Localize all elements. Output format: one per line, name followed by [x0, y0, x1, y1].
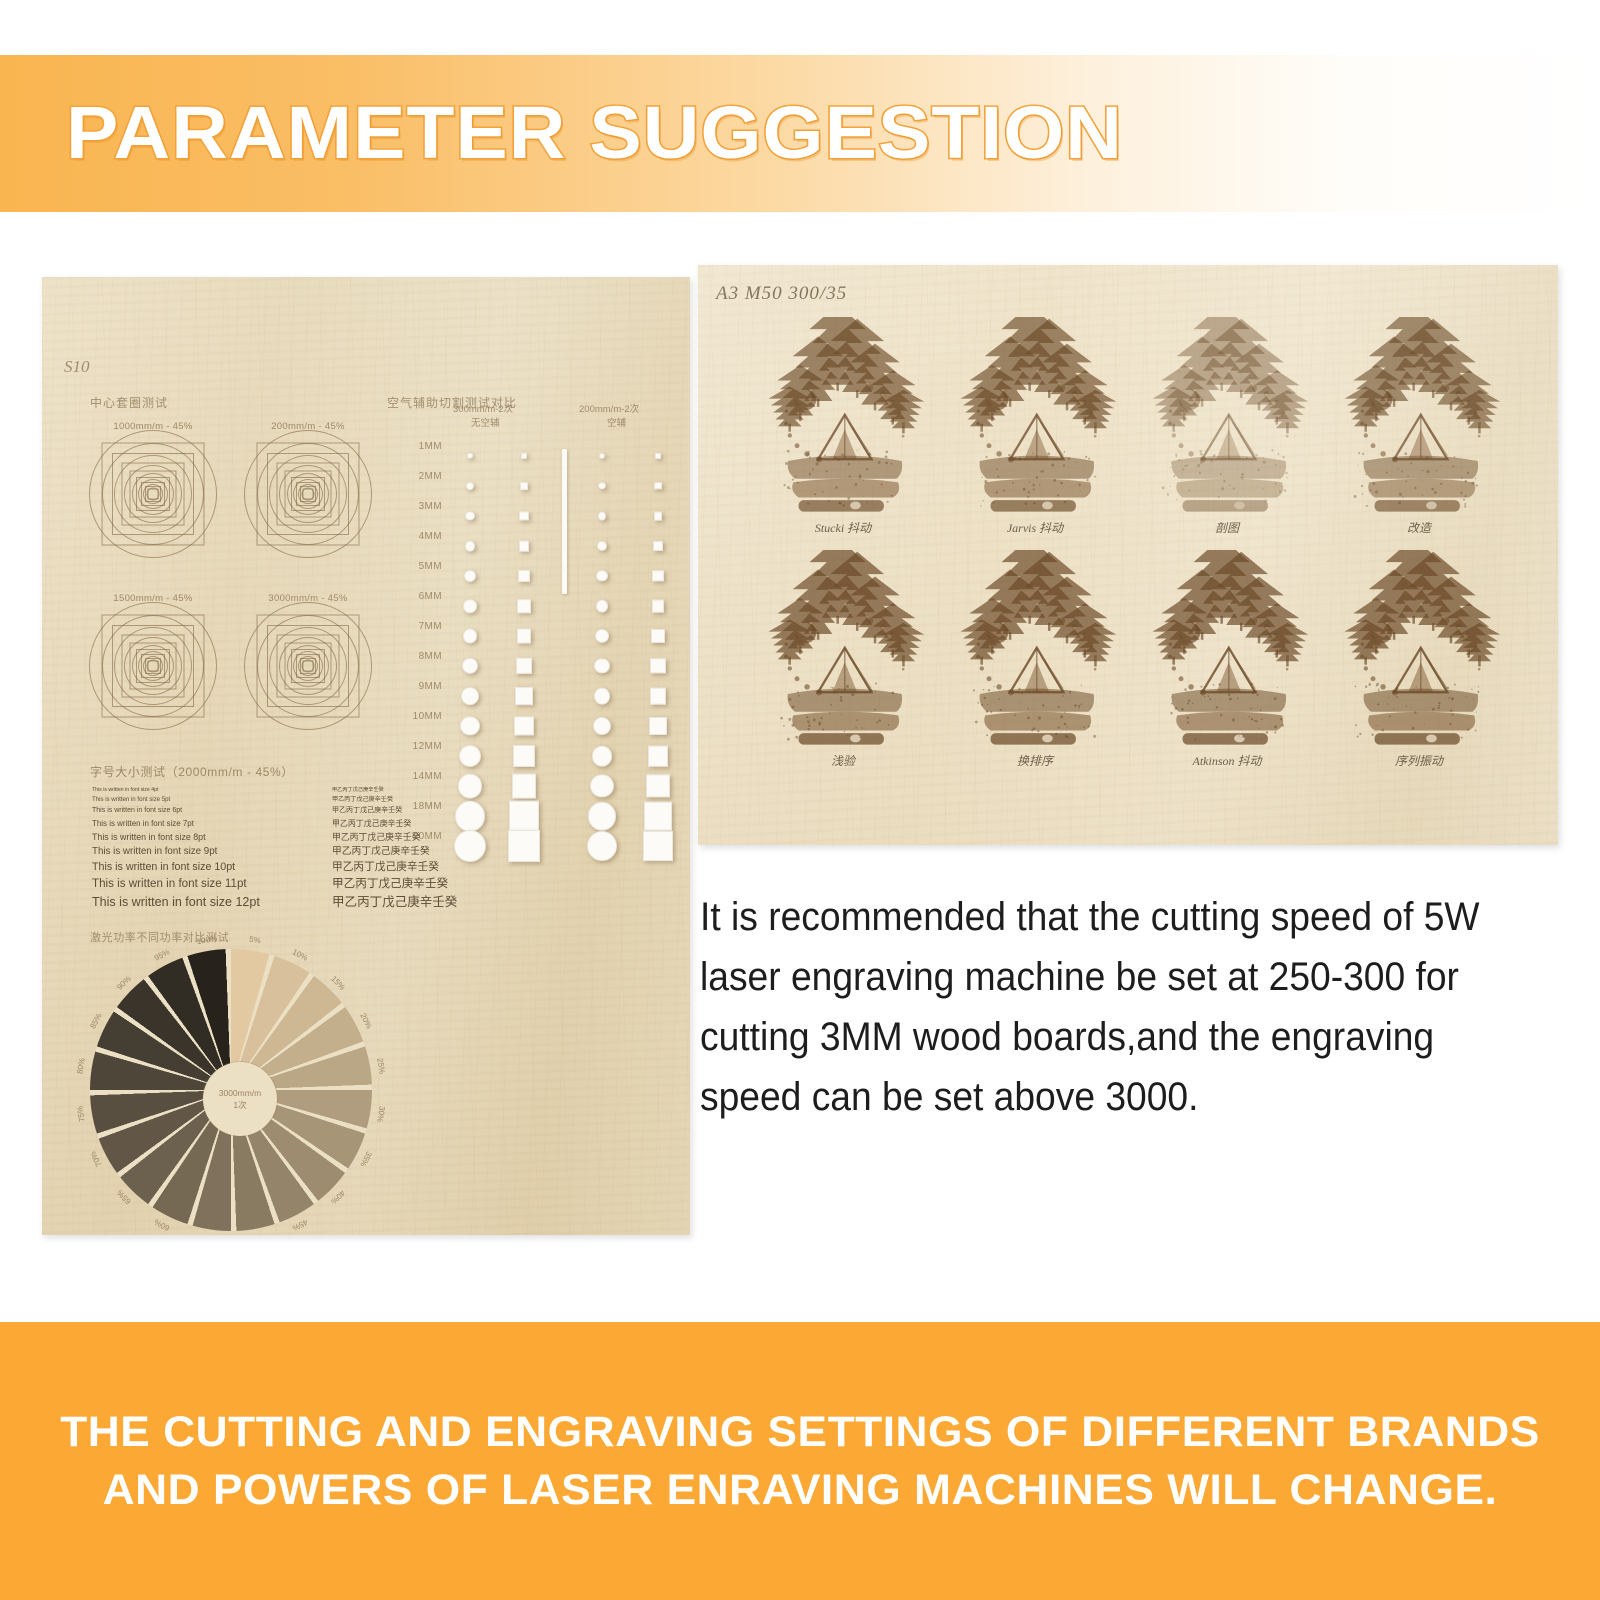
cut-square-piece	[513, 745, 535, 767]
font-test-chinese-column: 甲乙丙丁戊己庚辛壬癸甲乙丙丁戊己庚辛壬癸甲乙丙丁戊己庚辛壬癸甲乙丙丁戊己庚辛壬癸…	[332, 787, 532, 914]
cut-circle-piece	[467, 453, 473, 459]
page-title: PARAMETER SUGGESTION	[66, 96, 1123, 170]
engraving-row: 浅验换排序Atkinson 抖动序列振动	[758, 550, 1518, 769]
ring-test-heading: 中心套圈测试	[90, 394, 168, 411]
font-test-line-cn: 甲乙丙丁戊己庚辛壬癸	[332, 895, 532, 911]
size-label: 10MM	[390, 711, 442, 741]
cut-circle-piece	[464, 570, 476, 582]
engraving-artwork	[950, 550, 1120, 750]
engraving-caption: Atkinson 抖动	[1142, 752, 1312, 769]
cut-square-piece	[654, 482, 661, 489]
cut-circle-piece	[597, 541, 607, 551]
cut-grid-row	[447, 591, 685, 621]
fan-percent-label: 10%	[291, 947, 309, 962]
ring-target: 3000mm/m - 45%	[233, 583, 383, 743]
ring-square	[148, 661, 159, 672]
font-test-line-en: This is written in font size 9pt	[92, 846, 342, 858]
fan-hub: 3000mm/m 1次	[203, 1062, 277, 1136]
cut-circle-piece	[595, 629, 609, 643]
font-test-english-column: This is written in font size 4ptThis is …	[92, 787, 342, 914]
font-test-line-en: This is written in font size 8pt	[92, 832, 342, 843]
cut-circle-piece	[599, 453, 605, 459]
fan-hub-speed: 3000mm/m	[219, 1087, 262, 1099]
fan-percent-label: 50%	[246, 1234, 263, 1235]
cut-square-piece	[654, 512, 663, 521]
fan-percent-label: 40%	[330, 1189, 348, 1207]
engraving-artwork	[758, 317, 928, 517]
cut-circle-piece	[592, 746, 613, 767]
cut-square-piece	[515, 687, 533, 705]
cut-circle-piece	[598, 512, 607, 521]
font-test-line-en: This is written in font size 7pt	[92, 819, 342, 829]
cut-circle-piece	[596, 600, 609, 613]
fan-percent-label: 15%	[330, 974, 348, 992]
size-label: 3MM	[390, 501, 442, 531]
board-corner-note: S10	[64, 357, 90, 377]
cut-square-piece	[520, 482, 528, 490]
engraving-sample: 剖图	[1142, 317, 1312, 536]
engraving-sample: Atkinson 抖动	[1142, 550, 1312, 769]
font-test-line-cn: 甲乙丙丁戊己庚辛壬癸	[332, 861, 532, 874]
ring-target: 1000mm/m - 45%	[78, 411, 228, 571]
test-board-left: S10 中心套圈测试 空气辅助切割测试对比 1000mm/m - 45%200m…	[42, 277, 690, 1235]
cut-square-piece	[652, 600, 665, 613]
cut-circle-piece	[596, 570, 607, 581]
cut-circle-piece	[461, 687, 479, 705]
cut-circle-piece	[594, 688, 611, 705]
cut-square-piece	[643, 831, 673, 861]
engraving-caption: 剖图	[1142, 519, 1312, 536]
size-label: 4MM	[390, 531, 442, 561]
engraving-sample: 序列振动	[1334, 550, 1504, 769]
cut-circle-piece	[463, 599, 477, 613]
cut-circle-piece	[463, 629, 478, 644]
cut-grid-row	[447, 501, 685, 531]
fan-percent-label: 45%	[291, 1218, 309, 1233]
engraving-artwork	[1334, 317, 1504, 517]
cut-square-piece	[518, 570, 530, 582]
cut-square-piece	[644, 802, 673, 831]
font-test-line-cn: 甲乙丙丁戊己庚辛壬癸	[332, 877, 532, 892]
cut-circle-piece	[465, 511, 474, 520]
engraving-artwork	[950, 317, 1120, 517]
engraving-caption: 换排序	[950, 752, 1120, 769]
cut-square-piece	[519, 511, 528, 520]
cut-grid-row	[447, 711, 685, 741]
fan-percent-label: 70%	[88, 1150, 103, 1168]
engraving-artwork	[758, 550, 928, 750]
cut-square-piece	[652, 570, 663, 581]
cut-column-heading: 300mm/m-2次	[453, 401, 513, 415]
cut-square-piece	[514, 716, 533, 735]
fan-percent-label: 80%	[75, 1058, 86, 1075]
engraving-sample: Stucki 抖动	[758, 317, 928, 536]
ring-square	[303, 489, 314, 500]
cut-circle-piece	[590, 774, 613, 797]
engraving-sample: 浅验	[758, 550, 928, 769]
engraving-caption: 改造	[1334, 519, 1504, 536]
size-label: 2MM	[390, 471, 442, 501]
engraving-caption: 序列振动	[1334, 752, 1504, 769]
font-test-line-en: This is written in font size 10pt	[92, 861, 342, 874]
fan-percent-label: 35%	[359, 1150, 374, 1168]
ring-square	[303, 661, 314, 672]
font-test-line-cn: 甲乙丙丁戊己庚辛壬癸	[332, 807, 532, 816]
engraving-sample: Jarvis 抖动	[950, 317, 1120, 536]
cut-square-piece	[517, 629, 532, 644]
bottom-banner-text: THE CUTTING AND ENGRAVING SETTINGS OF DI…	[7, 1403, 1593, 1519]
font-test-line-en: This is written in font size 12pt	[92, 895, 342, 911]
ring-test-group: 1000mm/m - 45%200mm/m - 45%1500mm/m - 45…	[78, 411, 378, 751]
size-label: 7MM	[390, 621, 442, 651]
bottom-banner: THE CUTTING AND ENGRAVING SETTINGS OF DI…	[0, 1322, 1600, 1600]
cut-square-piece	[517, 599, 531, 613]
font-test-line-cn: 甲乙丙丁戊己庚辛壬癸	[332, 819, 532, 829]
fan-percent-label: 60%	[153, 1218, 171, 1233]
cut-square-piece	[655, 453, 661, 459]
size-label: 12MM	[390, 741, 442, 771]
fan-percent-label: 55%	[199, 1234, 216, 1235]
cut-square-piece	[519, 541, 530, 552]
font-test-line-cn: 甲乙丙丁戊己庚辛壬癸	[332, 846, 532, 858]
cut-square-piece	[649, 717, 667, 735]
font-test-line-cn: 甲乙丙丁戊己庚辛壬癸	[332, 787, 532, 793]
size-label: 9MM	[390, 681, 442, 711]
cut-square-piece	[650, 658, 665, 673]
font-test-line-cn: 甲乙丙丁戊己庚辛壬癸	[332, 832, 532, 843]
size-label: 5MM	[390, 561, 442, 591]
cut-square-piece	[653, 541, 663, 551]
fan-percent-label: 5%	[248, 935, 261, 946]
cut-grid-row	[447, 471, 685, 501]
cut-circle-piece	[588, 802, 617, 831]
cut-square-piece	[650, 688, 667, 705]
size-label: 1MM	[390, 441, 442, 471]
power-gradient-fan: 3000mm/m 1次 5%10%15%20%25%30%35%40%45%50…	[90, 949, 390, 1235]
cut-column-heading: 空辅	[607, 415, 626, 429]
engraving-caption: Stucki 抖动	[758, 519, 928, 536]
cut-circle-piece	[459, 745, 481, 767]
cut-circle-piece	[594, 658, 609, 673]
fan-percent-label: 25%	[375, 1058, 386, 1075]
cut-grid-row	[447, 561, 685, 591]
fan-percent-label: 85%	[88, 1012, 103, 1030]
engraving-caption: 浅验	[758, 752, 928, 769]
cut-circle-piece	[462, 658, 478, 674]
fan-percent-label: 75%	[75, 1105, 86, 1122]
fan-percent-label: 90%	[115, 974, 133, 992]
engraving-sample: 换排序	[950, 550, 1120, 769]
fan-percent-label: 65%	[115, 1189, 133, 1207]
size-label: 8MM	[390, 651, 442, 681]
recommendation-paragraph: It is recommended that the cutting speed…	[700, 887, 1500, 1127]
font-test-line-cn: 甲乙丙丁戊己庚辛壬癸	[332, 796, 532, 804]
cut-grid-row	[447, 441, 685, 471]
board-corner-note-right: A3 M50 300/35	[716, 283, 847, 305]
cut-circle-piece	[466, 482, 474, 490]
cut-square-piece	[646, 774, 669, 797]
font-test-line-en: This is written in font size 11pt	[92, 877, 342, 892]
engraving-caption: Jarvis 抖动	[950, 519, 1120, 536]
cut-grid-row	[447, 651, 685, 681]
cut-square-piece	[648, 746, 669, 767]
engraving-artwork	[1334, 550, 1504, 750]
cut-grid-row	[447, 621, 685, 651]
engraving-sample: 改造	[1334, 317, 1504, 536]
engraving-artwork	[1142, 550, 1312, 750]
content-area: S10 中心套圈测试 空气辅助切割测试对比 1000mm/m - 45%200m…	[0, 212, 1600, 1322]
font-test-line-en: This is written in font size 5pt	[92, 796, 342, 804]
fan-percent-label: 30%	[375, 1105, 386, 1122]
cut-square-piece	[521, 453, 527, 459]
cut-column-heading: 无空辅	[471, 415, 500, 429]
fan-hub-pass: 1次	[233, 1099, 246, 1111]
fan-percent-label: 20%	[359, 1012, 374, 1030]
ring-square	[148, 489, 159, 500]
font-test-line-en: This is written in font size 6pt	[92, 807, 342, 816]
cut-grid-row	[447, 531, 685, 561]
engraving-artwork	[1142, 317, 1312, 517]
ring-target: 200mm/m - 45%	[233, 411, 383, 571]
cut-grid-row	[447, 741, 685, 771]
cut-square-piece	[516, 658, 532, 674]
cut-circle-piece	[598, 482, 605, 489]
font-test-line-en: This is written in font size 4pt	[92, 787, 342, 793]
fan-percent-label: 95%	[153, 947, 171, 962]
size-label: 6MM	[390, 591, 442, 621]
engraving-row: Stucki 抖动Jarvis 抖动剖图改造	[758, 317, 1518, 536]
cut-circle-piece	[593, 717, 611, 735]
cut-square-piece	[651, 629, 665, 643]
cut-column-heading: 200mm/m-2次	[579, 401, 639, 415]
engraving-sample-grid: Stucki 抖动Jarvis 抖动剖图改造浅验换排序Atkinson 抖动序列…	[758, 317, 1518, 783]
font-test-heading: 字号大小测试（2000mm/m - 45%）	[90, 763, 294, 780]
cut-grid-row	[447, 681, 685, 711]
cut-circle-piece	[460, 716, 479, 735]
cut-circle-piece	[465, 541, 476, 552]
cut-circle-piece	[587, 831, 617, 861]
ring-target: 1500mm/m - 45%	[78, 583, 228, 743]
test-board-right: A3 M50 300/35 Stucki 抖动Jarvis 抖动剖图改造浅验换排…	[698, 265, 1558, 845]
